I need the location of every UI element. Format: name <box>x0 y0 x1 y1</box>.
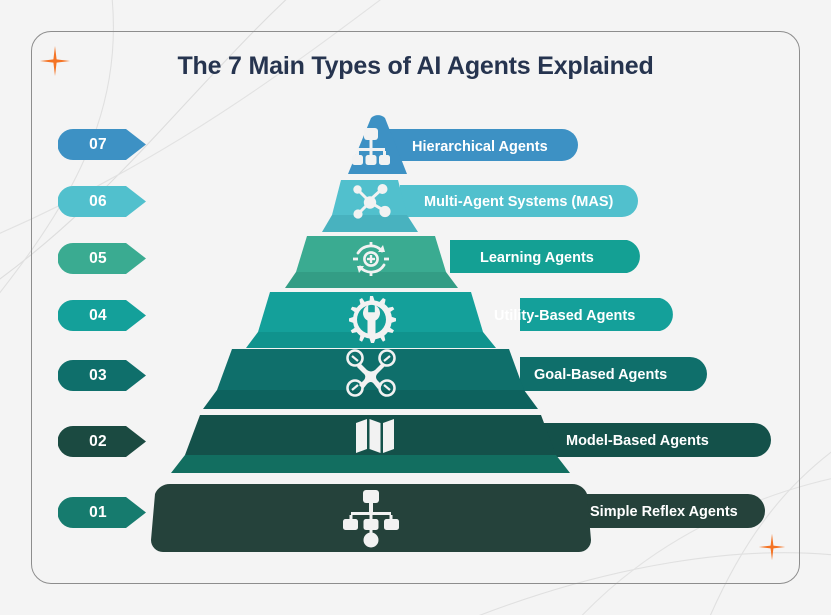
tier-badge-label: 03 <box>89 367 115 385</box>
tier-03-body <box>217 349 524 390</box>
pyramid-tier-01[interactable]: Simple Reflex Agents <box>151 484 765 552</box>
pyramid-tier-03[interactable]: Goal-Based Agents <box>203 349 707 409</box>
tier-badge-label: 07 <box>89 136 115 154</box>
tier-04-label: Utility-Based Agents <box>494 308 635 324</box>
tier-06-shadow <box>322 215 418 232</box>
tier-badge-label: 05 <box>89 250 115 268</box>
pyramid-chart: Simple Reflex Agents Model-Bas <box>0 0 831 615</box>
tier-06-label: Multi-Agent Systems (MAS) <box>424 194 613 210</box>
tier-02-shadow <box>171 455 570 473</box>
pyramid-tier-07[interactable]: Hierarchical Agents <box>348 115 578 174</box>
folded-map-icon <box>356 419 394 453</box>
tier-badge-label: 06 <box>89 193 115 211</box>
tier-07-label: Hierarchical Agents <box>412 139 548 155</box>
tier-05-label: Learning Agents <box>480 250 594 266</box>
pyramid-tier-06[interactable]: Multi-Agent Systems (MAS) <box>322 180 638 232</box>
infographic-root: The 7 Main Types of AI Agents Explained … <box>0 0 831 615</box>
pyramid-tier-02[interactable]: Model-Based Agents <box>171 415 771 473</box>
tier-02-label: Model-Based Agents <box>566 433 709 449</box>
tier-01-label: Simple Reflex Agents <box>590 504 738 520</box>
pyramid-tier-04[interactable]: Utility-Based Agents <box>246 292 673 348</box>
tier-badge-label: 02 <box>89 433 115 451</box>
pyramid-tier-05[interactable]: Learning Agents <box>285 236 640 288</box>
tier-badge-label: 01 <box>89 504 115 522</box>
tier-03-shadow <box>203 390 538 409</box>
tier-03-label: Goal-Based Agents <box>534 367 667 383</box>
tier-badge-label: 04 <box>89 307 115 325</box>
